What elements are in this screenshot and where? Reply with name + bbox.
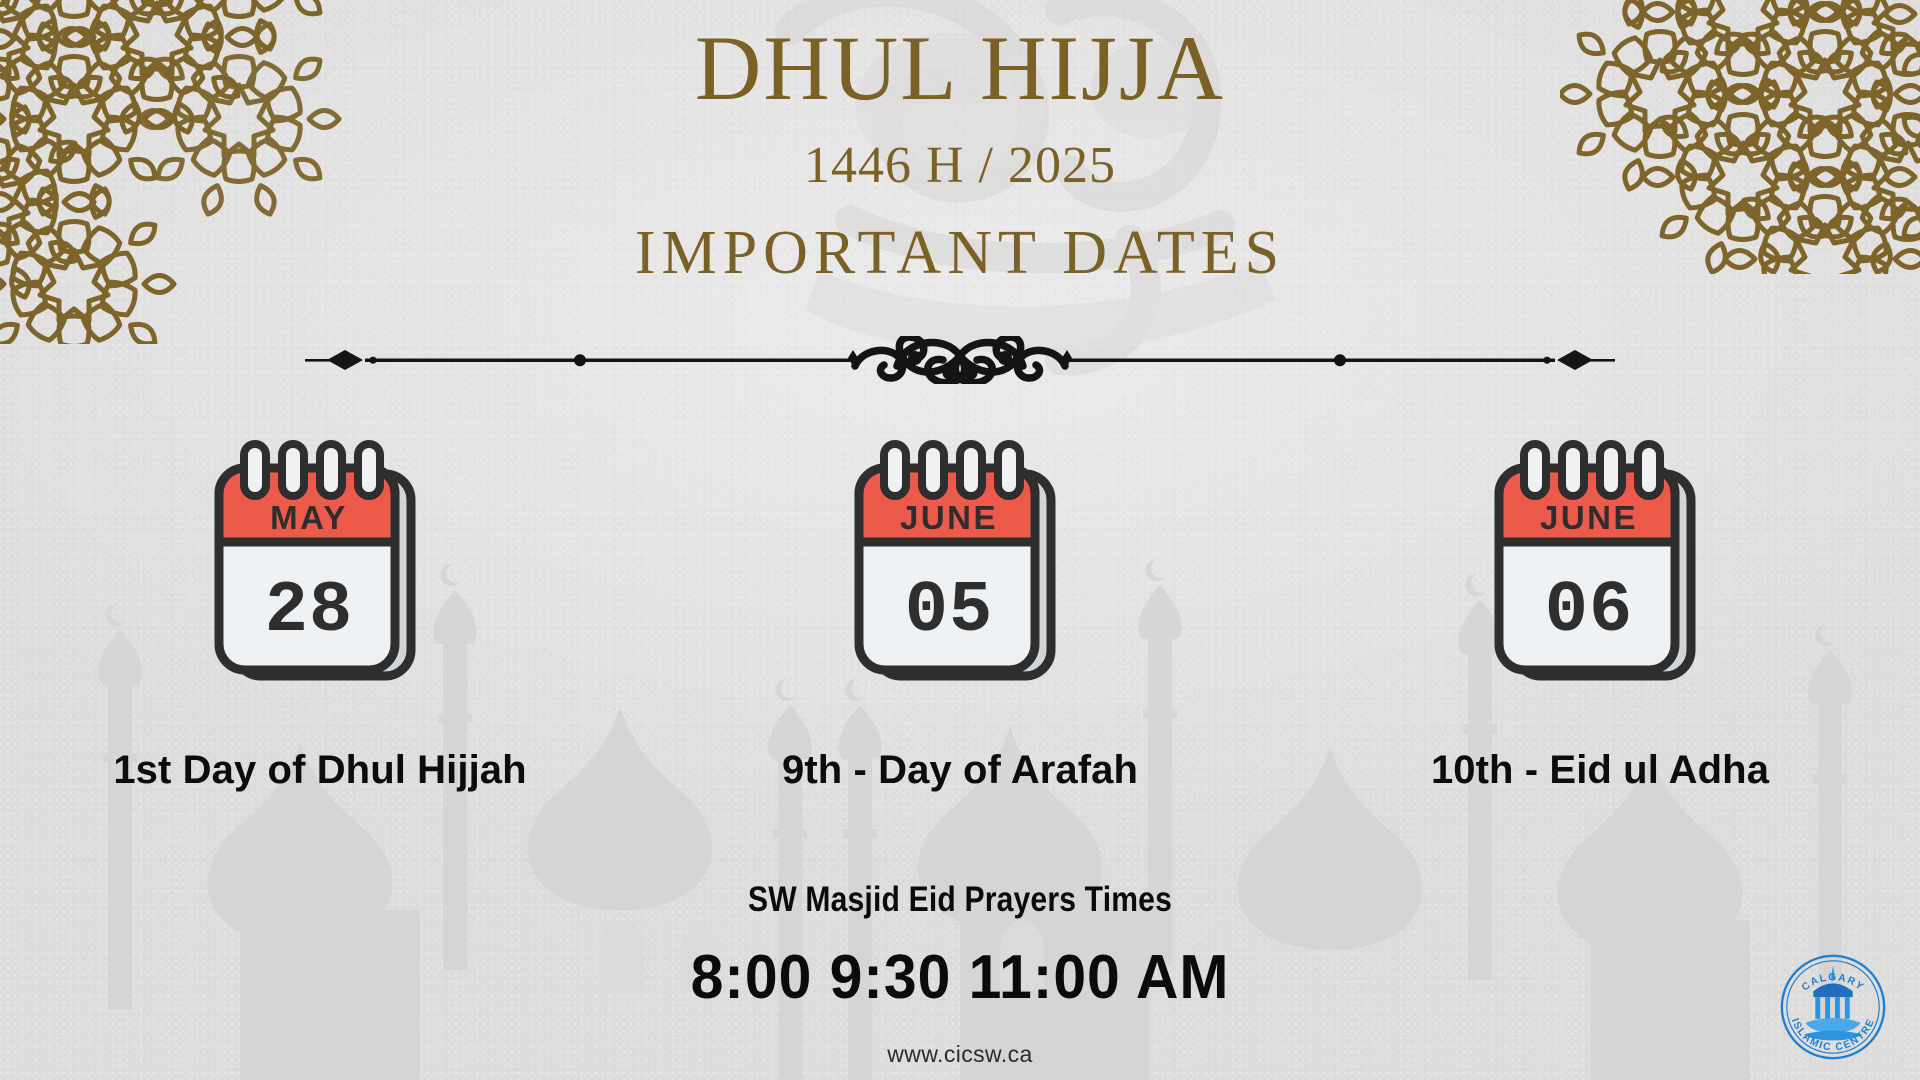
calgary-islamic-centre-logo-icon: CALGARY ISLAMIC CENTRE	[1774, 948, 1892, 1066]
date-card: JUNE 05 9th - Day of Arafah	[640, 440, 1280, 793]
calendar-day: 05	[905, 570, 993, 652]
date-caption: 9th - Day of Arafah	[782, 748, 1138, 793]
date-card: MAY 28 1st Day of Dhul Hijjah	[0, 440, 640, 793]
page-title: DHUL HIJJA	[0, 22, 1920, 114]
calendar-icon: MAY 28	[205, 440, 435, 702]
prayer-times-value: 8:00 9:30 11:00 AM	[48, 942, 1872, 1013]
ornamental-divider-icon	[305, 336, 1615, 384]
calendar-month: MAY	[270, 499, 348, 536]
poster-canvas: DHUL HIJJA 1446 H / 2025 IMPORTANT DATES	[0, 0, 1920, 1080]
date-caption: 10th - Eid ul Adha	[1431, 748, 1769, 793]
calendar-day: 06	[1545, 570, 1633, 652]
page-subtitle: IMPORTANT DATES	[0, 222, 1920, 284]
hijri-year-label: 1446 H / 2025	[0, 140, 1920, 192]
prayer-times-heading: SW Masjid Eid Prayers Times	[134, 880, 1785, 920]
calendar-month: JUNE	[900, 499, 998, 536]
calendar-icon: JUNE 06	[1485, 440, 1715, 702]
calendar-month: JUNE	[1540, 499, 1638, 536]
poster-footer: SW Masjid Eid Prayers Times 8:00 9:30 11…	[0, 880, 1920, 1068]
poster-header: DHUL HIJJA 1446 H / 2025 IMPORTANT DATES	[0, 0, 1920, 284]
date-caption: 1st Day of Dhul Hijjah	[113, 748, 526, 793]
calendar-icon: JUNE 05	[845, 440, 1075, 702]
website-url[interactable]: www.cicsw.ca	[0, 1041, 1920, 1068]
date-card: JUNE 06 10th - Eid ul Adha	[1280, 440, 1920, 793]
important-dates-row: MAY 28 1st Day of Dhul Hijjah	[0, 440, 1920, 793]
calendar-day: 28	[265, 570, 353, 652]
